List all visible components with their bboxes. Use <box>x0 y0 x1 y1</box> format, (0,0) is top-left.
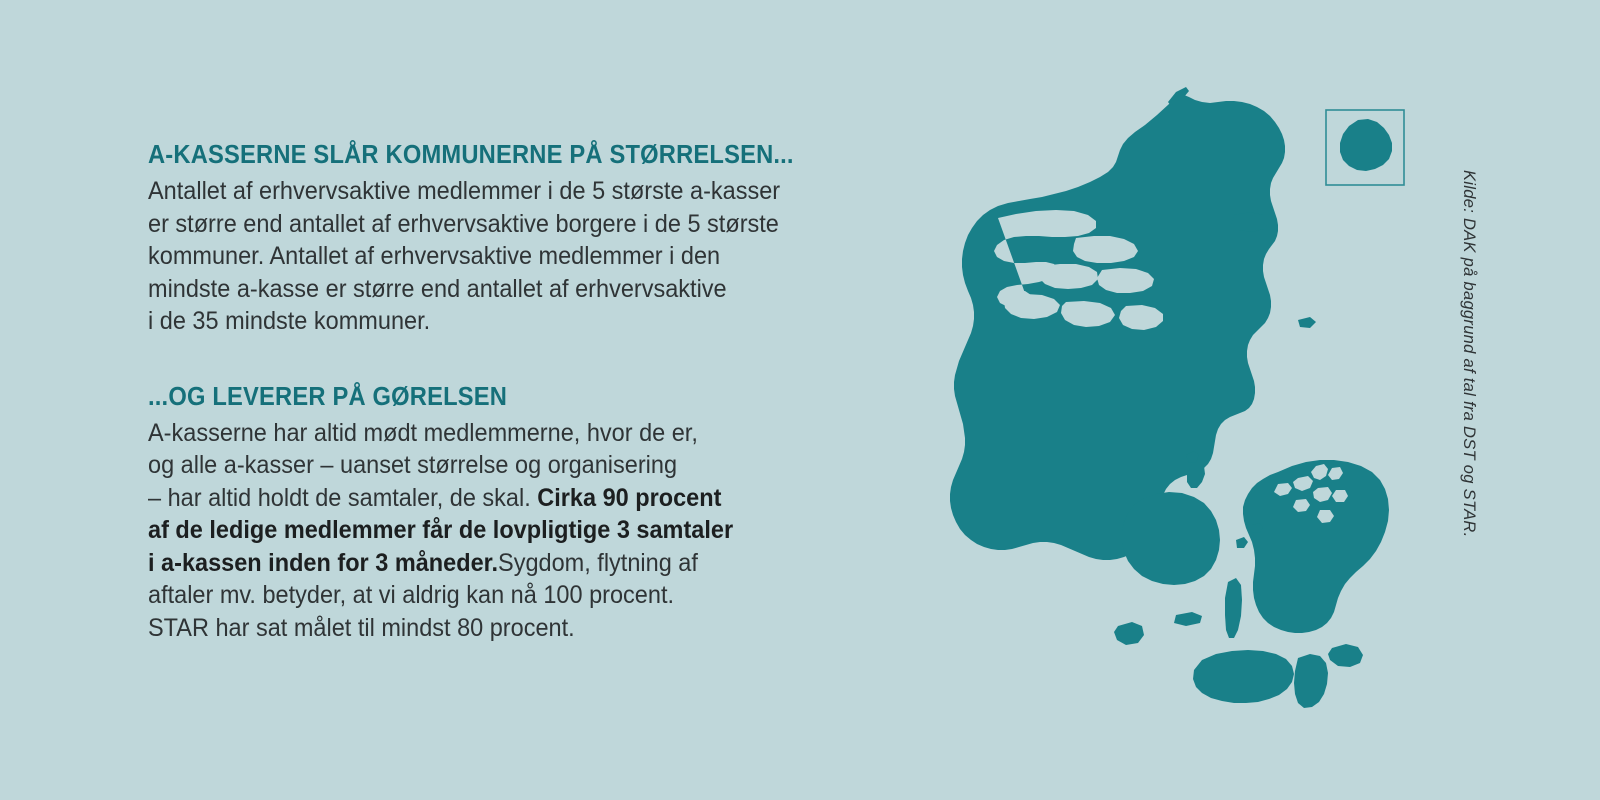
bold-run: Cirka 90 procent <box>537 484 721 512</box>
body-line-with-bold: i a-kassen inden for 3 måneder.Sygdom, f… <box>148 547 862 580</box>
source-credit: Kilde: DAK på baggrund af tal fra DST og… <box>1459 170 1478 590</box>
langeland-island <box>1225 578 1242 638</box>
text-block-1: A-KASSERNE SLÅR KOMMUNERNE PÅ STØRRELSEN… <box>148 140 908 338</box>
aero-island <box>1174 612 1202 626</box>
body-line: i de 35 mindste kommuner. <box>148 305 862 338</box>
denmark-map <box>880 70 1500 720</box>
mon-island <box>1328 644 1363 667</box>
lolland-island <box>1193 650 1294 703</box>
body-line: A-kasserne har altid mødt medlemmerne, h… <box>148 417 862 450</box>
body-line-with-bold: – har altid holdt de samtaler, de skal. … <box>148 482 862 515</box>
body-text-run: – har altid holdt de samtaler, de skal. <box>148 484 537 512</box>
text-column: A-KASSERNE SLÅR KOMMUNERNE PÅ STØRRELSEN… <box>148 140 908 644</box>
headline-2: ...OG LEVERER PÅ GØRELSEN <box>148 382 855 412</box>
body-line: kommuner. Antallet af erhvervsaktive med… <box>148 240 862 273</box>
body-line-bold: af de ledige medlemmer får de lovpligtig… <box>148 514 862 547</box>
falster-island <box>1294 654 1328 708</box>
body-text-run: Sygdom, flytning af <box>498 549 698 577</box>
body-line: aftaler mv. betyder, at vi aldrig kan nå… <box>148 579 862 612</box>
funen-island <box>1122 492 1220 585</box>
map-landmass <box>950 87 1404 708</box>
body-line: STAR har sat målet til mindst 80 procent… <box>148 612 862 645</box>
headline-1: A-KASSERNE SLÅR KOMMUNERNE PÅ STØRRELSEN… <box>148 140 855 170</box>
bold-run: i a-kassen inden for 3 måneder. <box>148 549 498 577</box>
body-line: er større end antallet af erhvervsaktive… <box>148 208 862 241</box>
text-block-2: ...OG LEVERER PÅ GØRELSEN A-kasserne har… <box>148 382 908 645</box>
body-line: og alle a-kasser – uanset størrelse og o… <box>148 449 862 482</box>
body-line: Antallet af erhvervsaktive medlemmer i d… <box>148 175 862 208</box>
als-island <box>1114 622 1144 645</box>
body-paragraph-2: A-kasserne har altid mødt medlemmerne, h… <box>148 417 862 645</box>
bold-run: af de ledige medlemmer får de lovpligtig… <box>148 516 733 544</box>
bornholm-island <box>1340 119 1392 171</box>
zealand-island <box>1243 460 1389 633</box>
anholt-island <box>1298 317 1316 328</box>
body-line: mindste a-kasse er større end antallet a… <box>148 273 862 306</box>
small-island <box>1236 537 1248 548</box>
infographic-canvas: A-KASSERNE SLÅR KOMMUNERNE PÅ STØRRELSEN… <box>0 0 1600 800</box>
body-paragraph-1: Antallet af erhvervsaktive medlemmer i d… <box>148 175 862 338</box>
